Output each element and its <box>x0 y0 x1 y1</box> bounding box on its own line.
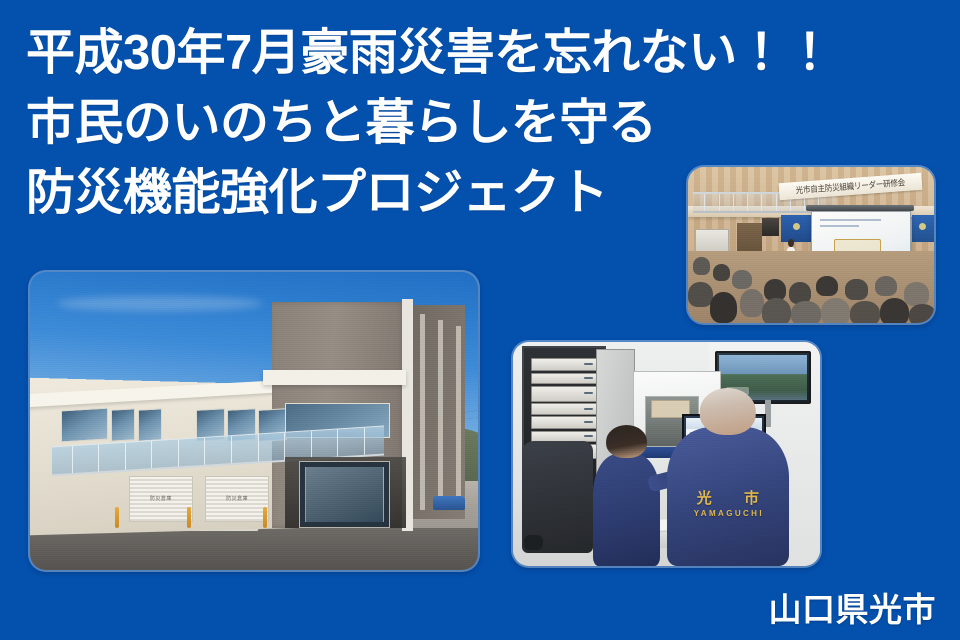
shutter-label: 防災倉庫 <box>226 495 248 502</box>
audience-member <box>710 292 737 323</box>
audience-member <box>850 301 880 323</box>
audience-member <box>821 298 851 323</box>
title-line-3: 防災機能強化プロジェクト <box>26 158 834 228</box>
audience-member <box>909 304 934 323</box>
shutter-label: 防災倉庫 <box>150 495 172 502</box>
audience-member <box>732 270 752 289</box>
audience-member <box>791 301 821 323</box>
audience-member <box>693 257 710 274</box>
audience-member <box>845 279 867 299</box>
staff-operator-seated <box>593 454 661 566</box>
window <box>138 408 162 441</box>
audience-member <box>816 276 838 296</box>
page-title: 平成30年7月豪雨災害を忘れない！！ 市民のいのちと暮らしを守る 防災機能強化プ… <box>26 18 834 228</box>
audience-member <box>688 282 713 307</box>
building-scene: 防災倉庫 防災倉庫 <box>30 272 478 570</box>
uniform-back-print: 光 市 YAMAGUCHI <box>683 491 773 518</box>
cloud <box>57 296 263 311</box>
title-line-1: 平成30年7月豪雨災害を忘れない！！ <box>26 18 834 88</box>
wall-whiteboard <box>695 229 729 253</box>
photo-disaster-prevention-building: 防災倉庫 防災倉庫 <box>30 272 478 570</box>
staff-supervisor-standing: 光 市 YAMAGUCHI <box>667 427 790 566</box>
parked-car <box>433 496 464 511</box>
entrance-canopy <box>263 370 406 385</box>
audience-member <box>713 264 730 281</box>
tower-fin <box>456 326 461 499</box>
audience-member <box>904 282 929 305</box>
audience-member <box>762 298 792 323</box>
organization-flag <box>912 215 934 242</box>
main-entrance <box>299 461 391 529</box>
monitor-mount <box>765 400 771 427</box>
office-chair <box>522 441 593 553</box>
title-line-2: 市民のいのちと暮らしを守る <box>26 88 834 158</box>
uniform-roman-text: YAMAGUCHI <box>683 509 773 518</box>
uniform-kanji-text: 光 市 <box>683 491 773 506</box>
tower-fin <box>438 320 443 505</box>
audience-member <box>740 289 765 317</box>
city-credit-label: 山口県光市 <box>769 590 937 630</box>
road-apron <box>30 528 478 570</box>
audience-member <box>875 276 897 296</box>
tower-fin <box>420 314 425 511</box>
head <box>700 388 756 435</box>
head <box>606 425 648 459</box>
storage-shutter: 防災倉庫 <box>205 476 270 523</box>
poster-canvas: 平成30年7月豪雨災害を忘れない！！ 市民のいのちと暮らしを守る 防災機能強化プ… <box>0 0 960 640</box>
window <box>111 408 135 441</box>
photo-disaster-control-room: 光 市 YAMAGUCHI <box>513 342 820 566</box>
control-room-scene: 光 市 YAMAGUCHI <box>513 342 820 566</box>
entrance-glass-door <box>305 467 384 522</box>
window <box>61 408 108 443</box>
chair-seat <box>524 535 544 551</box>
storage-shutter: 防災倉庫 <box>129 476 194 523</box>
